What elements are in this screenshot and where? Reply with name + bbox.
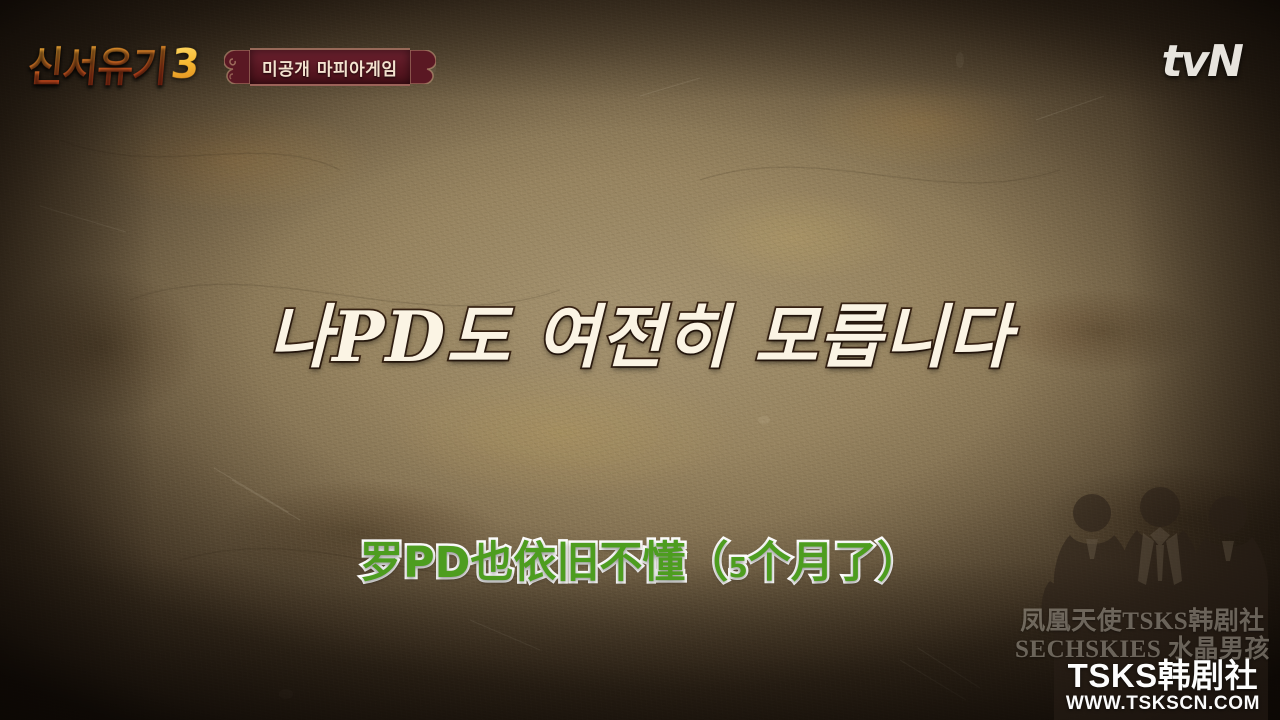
tvn-logo-part1: tv [1161,36,1207,87]
chinese-subtitle-suffix: 个月了） [748,538,920,588]
tvn-logo-part2: N [1207,36,1242,87]
fansub-watermark-main: TSKS韩剧社 WWW.TSKSCN.COM [1066,659,1260,714]
korean-subtitle: 나PD도 여전히 모릅니다 [0,281,1280,381]
show-logo-title: 신서유기 [25,34,170,93]
video-frame: 신서유기 3 미공개 마피아게임 tvN 나PD도 여전히 모릅니다 罗PD也依… [0,0,1280,720]
fansub-url: WWW.TSKSCN.COM [1066,694,1260,714]
episode-banner: 미공개 마피아게임 [224,50,436,84]
chinese-subtitle-prefix: 罗PD也依旧不懂（ [360,538,728,588]
chinese-subtitle-number: 5 [728,551,747,584]
show-logo: 신서유기 3 [28,36,199,92]
banner-label: 미공개 마피아게임 [262,55,398,80]
chinese-subtitle: 罗PD也依旧不懂（5个月了） [0,528,1280,590]
banner-left-cloud-icon [224,50,250,84]
banner-right-cloud-icon [410,50,436,84]
show-logo-season: 3 [168,40,202,88]
banner-body: 미공개 마피아게임 [250,48,410,86]
fansub-brand: TSKS韩剧社 [1066,659,1260,694]
tvn-network-logo: tvN [1161,36,1242,87]
